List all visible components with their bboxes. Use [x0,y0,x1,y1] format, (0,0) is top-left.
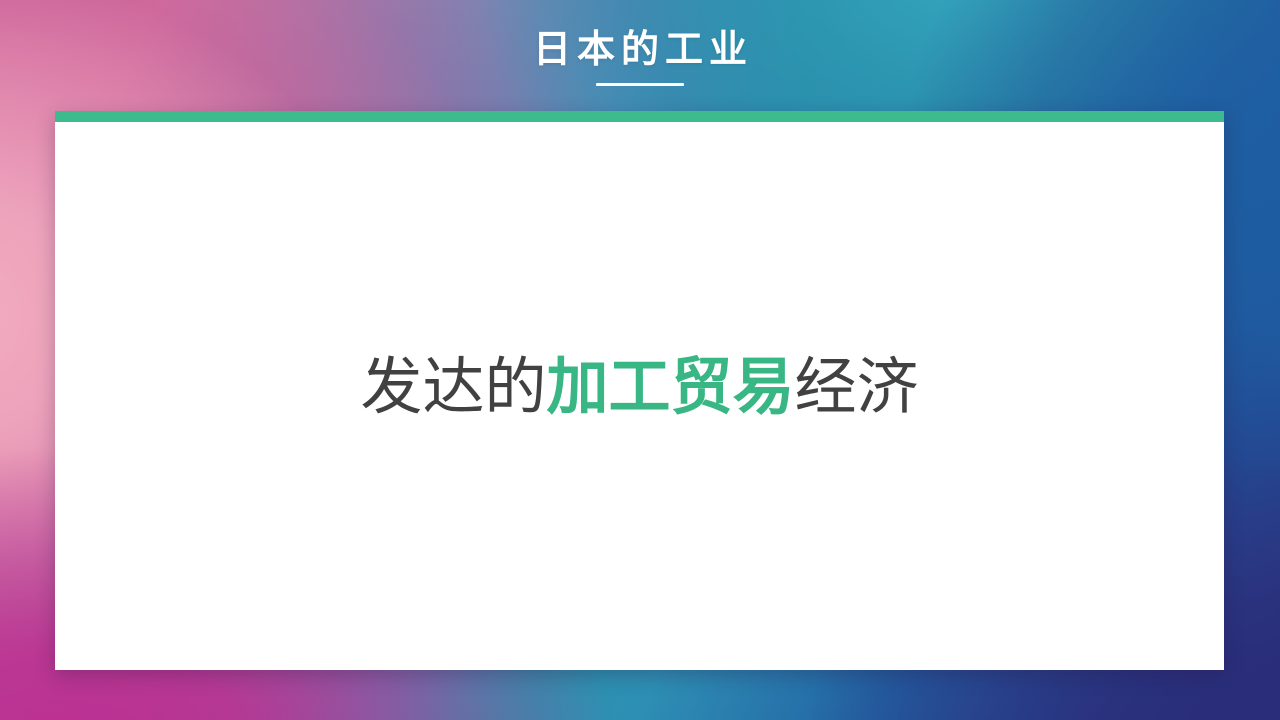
headline-lead: 发达的 [360,353,546,422]
title-underline-rule [596,83,684,86]
headline-accent: 加工贸易 [546,353,794,422]
card-accent-bar [55,111,1224,122]
page-title: 日本的工业 [0,28,1280,72]
headline-text: 发达的加工贸易经济 [360,349,918,427]
slide-title-block: 日本的工业 [0,28,1280,86]
presentation-slide: 日本的工业 发达的加工贸易经济 [0,0,1280,720]
content-card: 发达的加工贸易经济 [55,111,1224,670]
headline-trail: 经济 [795,353,919,422]
card-body: 发达的加工贸易经济 [55,122,1224,670]
